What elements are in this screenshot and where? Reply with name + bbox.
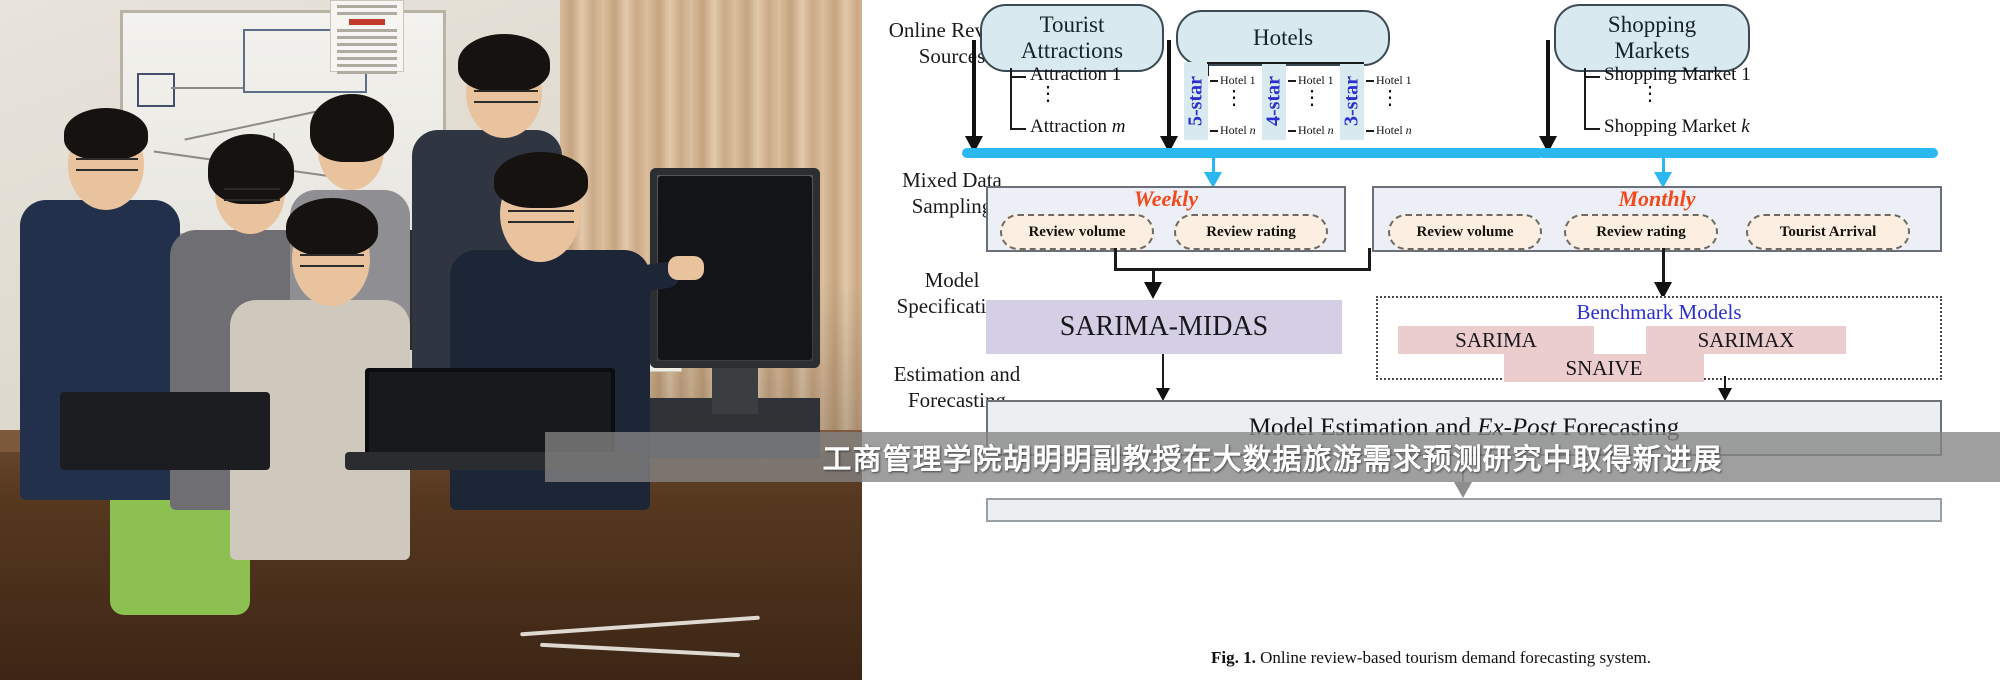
monthly-variable-review-volume[interactable]: Review volume xyxy=(1388,214,1542,250)
model-box-sarima-midas[interactable]: SARIMA-MIDAS xyxy=(986,300,1342,354)
hotel-last-suffix: n xyxy=(1328,123,1334,137)
source-box-hotels[interactable]: Hotels xyxy=(1176,10,1390,66)
screenshot-root: 工商管理学院胡明明副教授在大数据旅游需求预测研究中取得新进展 Online Re… xyxy=(0,0,2000,680)
photo-monitor-base xyxy=(672,414,800,428)
market-last-suffix: k xyxy=(1741,116,1749,137)
attractions-tree-branch xyxy=(1010,76,1026,78)
photo-person-hair xyxy=(458,34,550,92)
photo-person-hair xyxy=(286,198,378,256)
figure-caption-text: Online review-based tourism demand forec… xyxy=(1256,648,1651,667)
whiteboard-shape xyxy=(137,73,175,107)
hotel-last-suffix: n xyxy=(1406,123,1412,137)
attractions-ellipsis: ⋮ xyxy=(1038,92,1058,96)
hotel-item-tick xyxy=(1366,80,1374,82)
weekly-to-midas-stub xyxy=(1114,248,1117,270)
source-title-line: Attractions xyxy=(1021,38,1123,64)
monthly-variable-review-rating[interactable]: Review rating xyxy=(1564,214,1718,250)
whiteboard-line xyxy=(171,87,243,89)
photo-person-glasses xyxy=(76,158,138,171)
source-box-title: Hotels xyxy=(1253,25,1313,51)
benchmark-models-group[interactable]: Benchmark Models SARIMA SARIMAX SNAIVE xyxy=(1376,296,1942,380)
hotel-item-tick xyxy=(1288,130,1296,132)
row-label-line: Model xyxy=(862,268,1042,294)
hotel-ellipsis: ⋮ xyxy=(1380,96,1396,100)
photo-person-hair xyxy=(310,94,394,162)
weekly-variable-review-volume[interactable]: Review volume xyxy=(1000,214,1154,250)
photo-person-glasses xyxy=(474,90,538,103)
weekly-variable-review-rating[interactable]: Review rating xyxy=(1174,214,1328,250)
attractions-tree-branch xyxy=(1010,128,1026,130)
headline-text: 工商管理学院胡明明副教授在大数据旅游需求预测研究中取得新进展 xyxy=(822,436,1722,478)
figure-caption: Fig. 1. Online review-based tourism dema… xyxy=(862,648,2000,668)
benchmark-model-sarima[interactable]: SARIMA xyxy=(1398,326,1594,354)
photo-person-glasses xyxy=(300,254,364,267)
bottom-result-box[interactable] xyxy=(986,498,1942,522)
source-box-shopping-markets[interactable]: Shopping Markets xyxy=(1554,4,1750,72)
markets-tree-branch xyxy=(1584,76,1600,78)
attraction-item-last: Attraction m xyxy=(1030,116,1126,138)
hotel-category-label: 5-star xyxy=(1185,76,1208,126)
figure-panel: Online Review Sources Mixed Data Samplin… xyxy=(862,0,2000,680)
benchmark-models-title: Benchmark Models xyxy=(1378,300,1940,325)
sampling-box-monthly[interactable]: Monthly Review volume Review rating Tour… xyxy=(1372,186,1942,252)
chinese-headline-banner: 工商管理学院胡明明副教授在大数据旅游需求预测研究中取得新进展 xyxy=(545,432,2000,482)
hotel-category-4-star[interactable]: 4-star xyxy=(1262,62,1286,140)
data-flow-bar xyxy=(962,148,1544,158)
midas-to-estimation-line xyxy=(1162,354,1164,390)
source-title-line: Shopping xyxy=(1608,12,1696,38)
hotels-to-bar-line xyxy=(1167,40,1171,140)
figure-caption-label: Fig. 1. xyxy=(1211,648,1256,667)
source-box-tourist-attractions[interactable]: Tourist Attractions xyxy=(980,4,1164,72)
sampling-box-weekly[interactable]: Weekly Review volume Review rating xyxy=(986,186,1346,252)
markets-ellipsis: ⋮ xyxy=(1640,92,1660,96)
hotel-category-5-star[interactable]: 5-star xyxy=(1184,62,1208,140)
hotel-item-tick xyxy=(1366,130,1374,132)
hotel-category-3-star[interactable]: 3-star xyxy=(1340,62,1364,140)
data-flow-bar xyxy=(1538,148,1938,158)
photo-person-hair xyxy=(494,152,588,208)
market-item-last: Shopping Market k xyxy=(1604,116,1750,138)
hotel-ellipsis: ⋮ xyxy=(1302,96,1318,100)
hotel-last-prefix: Hotel xyxy=(1376,123,1406,137)
model-box-label: SARIMA-MIDAS xyxy=(1060,311,1268,343)
hotel-last-prefix: Hotel xyxy=(1298,123,1328,137)
markets-tree-branch xyxy=(1584,128,1600,130)
hotel-item-tick xyxy=(1288,80,1296,82)
hotel-item-first: Hotel 1 xyxy=(1298,73,1334,88)
market-item-first: Shopping Market 1 xyxy=(1604,64,1751,86)
photo-person-hair xyxy=(64,108,148,160)
weekly-title: Weekly xyxy=(988,186,1344,212)
source-title-line: Markets xyxy=(1608,38,1696,64)
attractions-to-bar-line xyxy=(972,40,976,140)
photo-pointing-hand xyxy=(668,256,704,280)
hotel-last-suffix: n xyxy=(1250,123,1256,137)
monthly-variable-tourist-arrival[interactable]: Tourist Arrival xyxy=(1746,214,1910,250)
monthly-title: Monthly xyxy=(1374,186,1940,212)
hotel-last-prefix: Hotel xyxy=(1220,123,1250,137)
photo-person-glasses xyxy=(508,210,574,223)
photo-wall-poster xyxy=(330,0,404,72)
hotel-category-label: 4-star xyxy=(1263,76,1286,126)
hotel-item-last: Hotel n xyxy=(1298,123,1334,138)
benchmark-model-snaive[interactable]: SNAIVE xyxy=(1504,354,1704,382)
photo-person-glasses xyxy=(224,188,280,201)
hotel-item-last: Hotel n xyxy=(1220,123,1256,138)
hotel-item-tick xyxy=(1210,130,1218,132)
photo-second-laptop xyxy=(60,392,270,470)
source-title-line: Tourist xyxy=(1021,12,1123,38)
attraction-last-suffix: m xyxy=(1112,116,1126,137)
hotel-item-last: Hotel n xyxy=(1376,123,1412,138)
monthly-to-midas-stub xyxy=(1368,248,1371,270)
hotel-item-first: Hotel 1 xyxy=(1376,73,1412,88)
source-box-title: Shopping Markets xyxy=(1608,12,1696,64)
markets-to-bar-line xyxy=(1546,40,1550,140)
hotel-item-first: Hotel 1 xyxy=(1220,73,1256,88)
attraction-last-prefix: Attraction xyxy=(1030,116,1112,137)
benchmark-model-sarimax[interactable]: SARIMAX xyxy=(1646,326,1846,354)
team-photo xyxy=(0,0,862,680)
midas-feed-arrow xyxy=(1144,282,1162,299)
market-last-prefix: Shopping Market xyxy=(1604,116,1741,137)
source-box-title: Tourist Attractions xyxy=(1021,12,1123,64)
hotel-ellipsis: ⋮ xyxy=(1224,96,1240,100)
hotel-category-label: 3-star xyxy=(1341,76,1364,126)
hotel-item-tick xyxy=(1210,80,1218,82)
row-label-line: Estimation and xyxy=(862,362,1052,388)
photo-monitor-stand xyxy=(712,368,758,420)
monthly-to-benchmark-line xyxy=(1662,248,1665,284)
hotels-branch-bus xyxy=(1207,62,1364,64)
estimation-to-bottom-arrow xyxy=(1454,482,1472,498)
